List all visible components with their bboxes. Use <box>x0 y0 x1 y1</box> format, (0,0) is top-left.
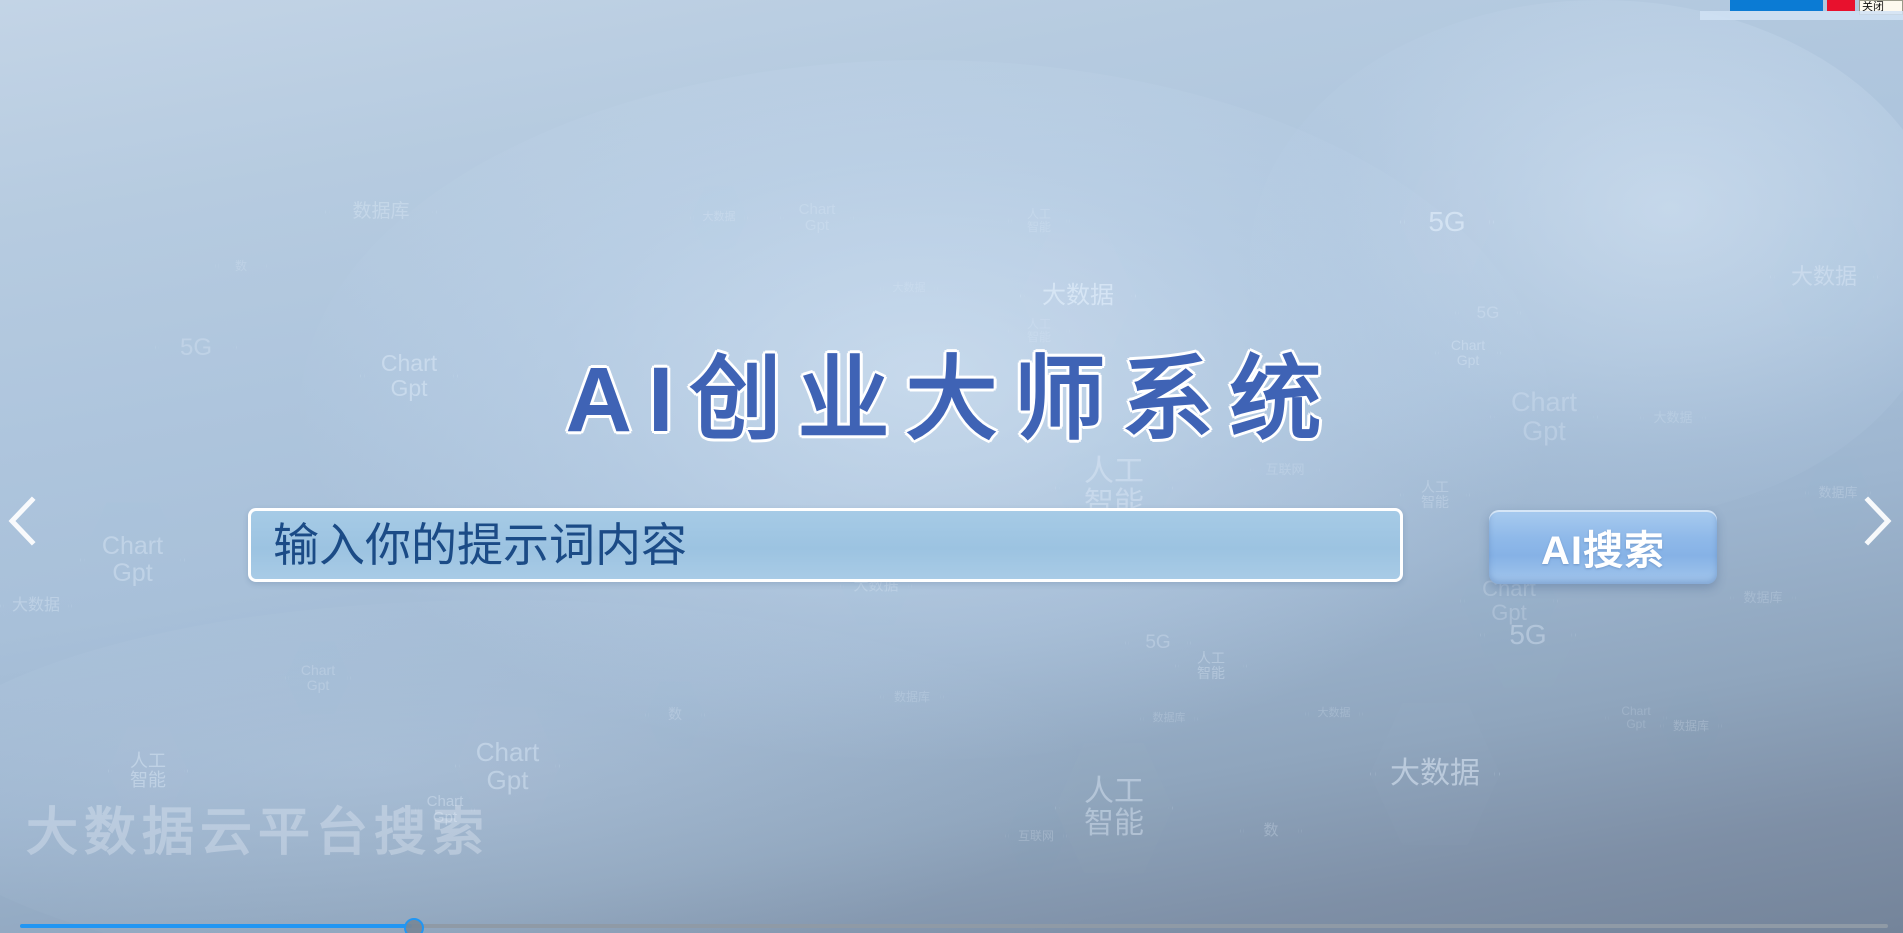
hexagon-decoration: 大数据 <box>1770 215 1878 339</box>
browser-blue-bar <box>1730 0 1823 11</box>
hexagon-decoration: 大数据 <box>880 255 938 323</box>
page-title: AI创业大师系统 <box>0 325 1903 458</box>
carousel-prev-arrow-icon[interactable] <box>2 492 44 550</box>
slider-handle[interactable] <box>404 918 424 933</box>
bottom-progress-slider[interactable] <box>20 918 1888 933</box>
search-row: AI搜索 <box>0 508 1903 588</box>
hexagon-decoration: 数 <box>1240 795 1302 867</box>
hexagon-decoration: 数 <box>215 235 267 297</box>
hexagon-decoration: 数据库 <box>880 660 944 734</box>
app-root: 数据库5GChart Gpt大数据Chart Gpt大数据人工 智能人工 智能5… <box>0 0 1903 933</box>
browser-light-band <box>1700 11 1903 20</box>
prompt-search-input[interactable] <box>248 508 1403 582</box>
hexagon-decoration: Chart Gpt <box>285 640 351 716</box>
hexagon-decoration: 数 <box>645 680 705 750</box>
browser-red-indicator[interactable] <box>1827 0 1855 11</box>
background-watermark-text: 大数据云平台搜索 <box>26 790 490 865</box>
hexagon-decoration: Chart Gpt <box>1605 682 1667 754</box>
hexagon-decoration: 人工 智能 <box>1055 740 1173 876</box>
hexagon-decoration: 大数据 <box>1305 680 1363 748</box>
hexagon-decoration: 大数据 <box>1370 700 1500 848</box>
hexagon-decoration: 5G <box>1400 168 1494 276</box>
hexagon-decoration: 大数据 <box>690 185 748 251</box>
slider-fill <box>20 924 412 928</box>
carousel-next-arrow-icon[interactable] <box>1856 492 1898 550</box>
hexagon-decoration: 数据库 <box>1660 690 1722 762</box>
ai-search-button[interactable]: AI搜索 <box>1489 510 1717 584</box>
hexagon-decoration: 数据库 <box>325 148 437 276</box>
hexagon-decoration: Chart Gpt <box>780 175 854 261</box>
